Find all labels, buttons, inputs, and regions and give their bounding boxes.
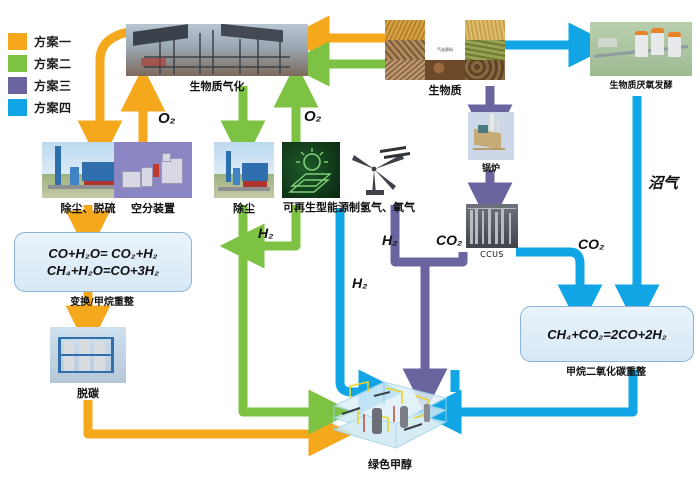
label-h2-purple: H₂ [382, 232, 397, 248]
label-h2-blue: H₂ [352, 275, 367, 291]
biomass-image: 气化原料 [385, 20, 505, 80]
flowchart-canvas: 方案一 方案二 方案三 方案四 生物质气化 [0, 0, 700, 494]
node-boiler[interactable]: 锅炉 [468, 112, 514, 174]
legend-label-scheme-2: 方案二 [34, 55, 72, 72]
legend-swatch-scheme-2 [8, 55, 27, 72]
dedust-caption: 除尘 [214, 200, 274, 216]
label-h2-green: H₂ [258, 225, 273, 241]
wind-turbine-icon [344, 142, 416, 198]
node-green-methanol[interactable]: 绿色甲醇 [328, 370, 452, 472]
green-methanol-caption: 绿色甲醇 [328, 456, 452, 472]
gasification-caption: 生物质气化 [126, 78, 308, 94]
renewable-caption: 可再生型能源制氢气、氧气 [282, 199, 416, 215]
equation-box-methane-co2-reforming: CH₄+CO₂=2CO+2H₂ [520, 306, 694, 362]
biomass-cell-label: 气化原料 [425, 40, 465, 60]
arrow-renewable-h2-blue-to-methanol [340, 208, 380, 392]
legend-swatch-scheme-1 [8, 33, 27, 50]
node-anaerobic-fermentation[interactable]: 生物质厌氧发酵 [590, 22, 692, 91]
decarbonization-image [50, 327, 126, 383]
legend-label-scheme-4: 方案四 [34, 99, 72, 116]
arrow-dedust-to-methanol-green [243, 205, 330, 412]
legend-item-3: 方案四 [8, 96, 72, 118]
node-dedust[interactable]: 除尘 [214, 142, 274, 216]
decarbonization-caption: 脱碳 [50, 385, 126, 401]
node-decarbonization[interactable]: 脱碳 [50, 327, 126, 401]
node-biomass[interactable]: 气化原料 生物质 [385, 20, 505, 98]
legend-label-scheme-1: 方案一 [34, 33, 72, 50]
equation-line-1: CO+H₂O= CO₂+H₂ [48, 246, 157, 261]
label-co2-blue: CO₂ [578, 236, 604, 252]
anaerobic-fermentation-image [590, 22, 692, 76]
renewable-solar-image [282, 142, 340, 198]
arrow-decarbonization-to-methanol-orange [88, 400, 330, 434]
renewable-wind-image [344, 142, 416, 198]
biomass-caption: 生物质 [385, 82, 505, 98]
legend-swatch-scheme-3 [8, 77, 27, 94]
equation-box-methane-co2-reforming-caption: 甲烷二氧化碳重整 [520, 363, 692, 378]
node-ccus[interactable]: CCUS [466, 204, 518, 259]
green-methanol-image [328, 370, 452, 454]
gasification-image [126, 24, 308, 76]
legend-item-1: 方案二 [8, 52, 72, 74]
boiler-caption: 锅炉 [468, 161, 514, 174]
node-air-separation-unit[interactable]: 空分装置 [114, 142, 192, 216]
label-co2-purple: CO₂ [436, 232, 462, 248]
legend-label-scheme-3: 方案三 [34, 77, 72, 94]
air-separation-caption: 空分装置 [114, 200, 192, 216]
label-o2-green: O₂ [304, 108, 321, 125]
boiler-image [468, 112, 514, 160]
methanol-plant-icon [328, 370, 452, 454]
anaerobic-fermentation-caption: 生物质厌氧发酵 [590, 78, 692, 91]
legend-item-2: 方案三 [8, 74, 72, 96]
equation-box-shift-reforming: CO+H₂O= CO₂+H₂ CH₄+H₂O=CO+3H₂ [14, 232, 192, 292]
renewable-image-group [282, 142, 416, 198]
label-o2-orange: O₂ [158, 110, 175, 127]
solar-sun-icon [282, 142, 340, 198]
equation-line-3: CH₄+CO₂=2CO+2H₂ [547, 327, 667, 342]
legend: 方案一 方案二 方案三 方案四 [8, 30, 72, 118]
equation-line-2: CH₄+H₂O=CO+3H₂ [47, 263, 159, 278]
label-biogas: 沼气 [648, 172, 678, 193]
arrow-ccus-co2-to-reforming [516, 252, 580, 306]
air-separation-image [114, 142, 192, 198]
dedust-image [214, 142, 274, 198]
ccus-caption: CCUS [466, 250, 518, 259]
ccus-image [466, 204, 518, 248]
node-renewable-energy-h2-o2[interactable]: 可再生型能源制氢气、氧气 [282, 142, 416, 215]
node-gasification[interactable]: 生物质气化 [126, 24, 308, 94]
legend-item-0: 方案一 [8, 30, 72, 52]
legend-swatch-scheme-4 [8, 99, 27, 116]
equation-box-shift-reforming-caption: 变换/甲烷重整 [14, 293, 190, 308]
